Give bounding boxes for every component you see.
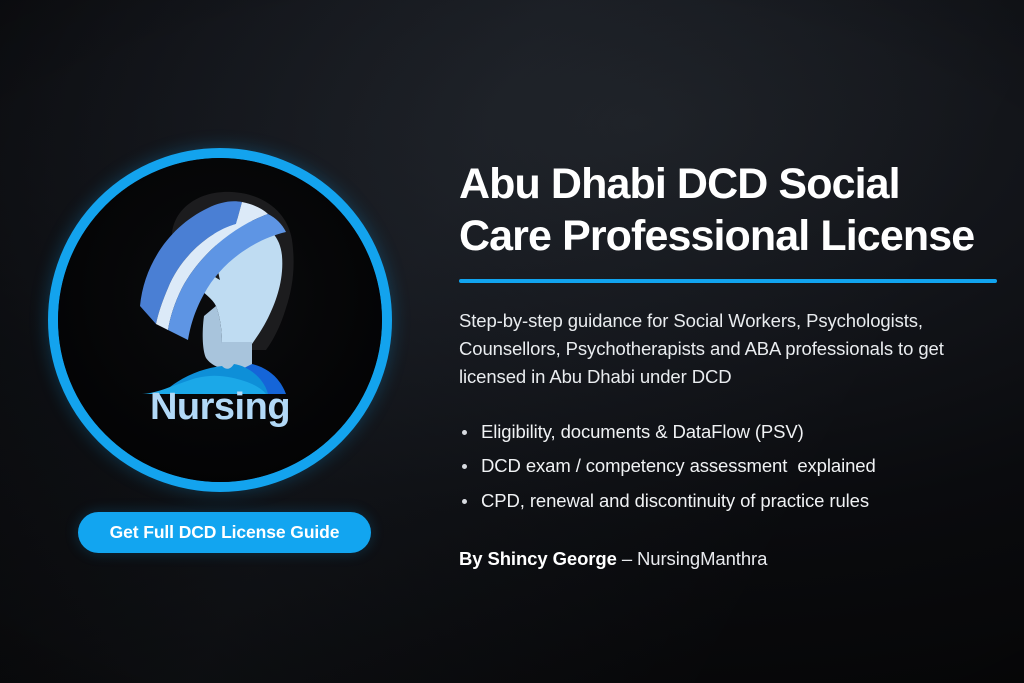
nursing-logo-badge: Nursing xyxy=(48,148,392,492)
page-title: Abu Dhabi DCD Social Care Professional L… xyxy=(459,158,999,263)
list-item: CPD, renewal and discontinuity of practi… xyxy=(459,484,999,518)
nurse-silhouette-icon xyxy=(116,182,324,394)
get-full-dcd-license-guide-button[interactable]: Get Full DCD License Guide xyxy=(78,512,371,553)
list-item: DCD exam / competency assessment explain… xyxy=(459,449,999,483)
poster-canvas: Nursing Get Full DCD License Guide Abu D… xyxy=(0,0,1024,683)
byline-author: By Shincy George xyxy=(459,548,617,569)
byline-brand: – NursingManthra xyxy=(622,548,767,569)
logo-wordmark: Nursing xyxy=(58,386,382,429)
content-column: Abu Dhabi DCD Social Care Professional L… xyxy=(459,158,999,570)
subtitle-text: Step-by-step guidance for Social Workers… xyxy=(459,307,979,391)
feature-bullet-list: Eligibility, documents & DataFlow (PSV) … xyxy=(459,415,999,518)
list-item: Eligibility, documents & DataFlow (PSV) xyxy=(459,415,999,449)
byline: By Shincy George – NursingManthra xyxy=(459,548,999,570)
accent-underline xyxy=(459,279,997,283)
